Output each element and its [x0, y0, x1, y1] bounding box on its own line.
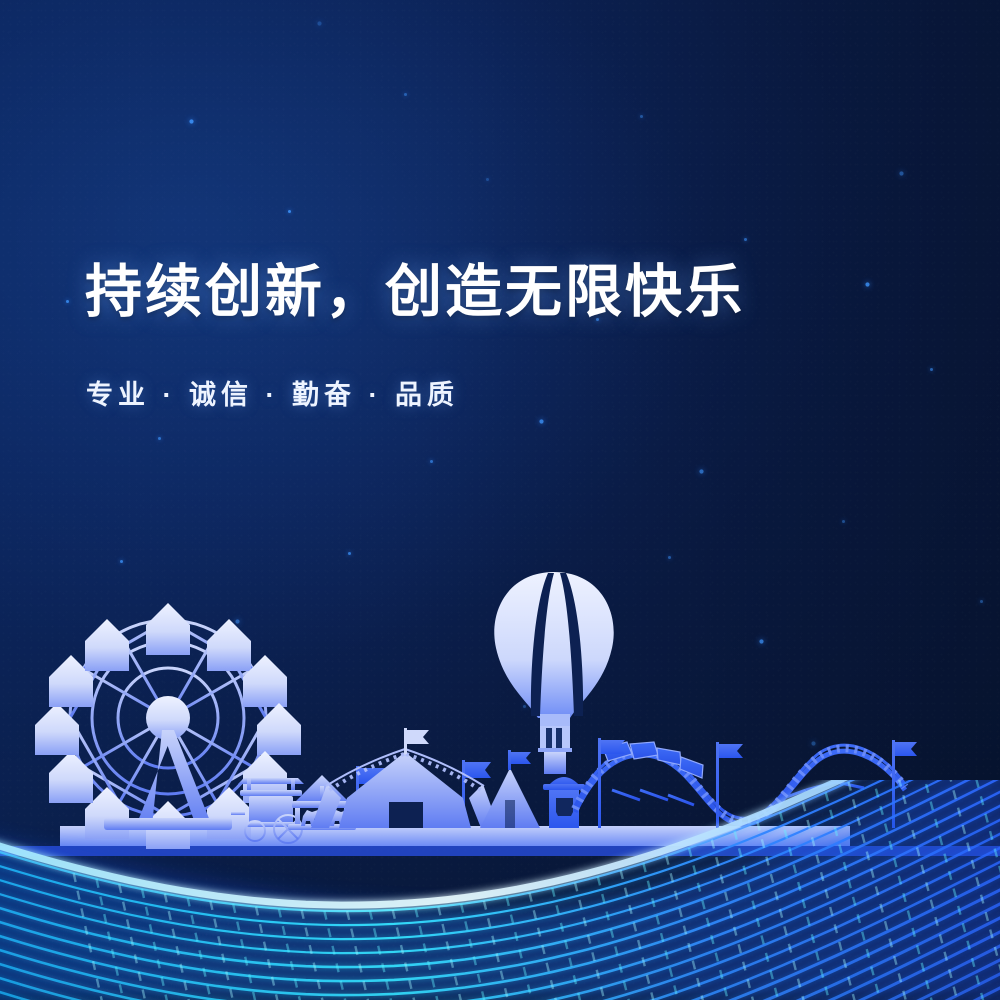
wave-glow-band [0, 724, 1000, 1000]
subline: 专业 · 诚信 · 勤奋 · 品质 [86, 373, 459, 412]
poster-canvas: 持续创新，创造无限快乐专业 · 诚信 · 勤奋 · 品质 [0, 0, 1000, 1000]
wave-mesh-svg [0, 0, 1000, 1000]
headline: 持续创新，创造无限快乐 [85, 263, 745, 323]
wave-mesh [0, 0, 1000, 1000]
